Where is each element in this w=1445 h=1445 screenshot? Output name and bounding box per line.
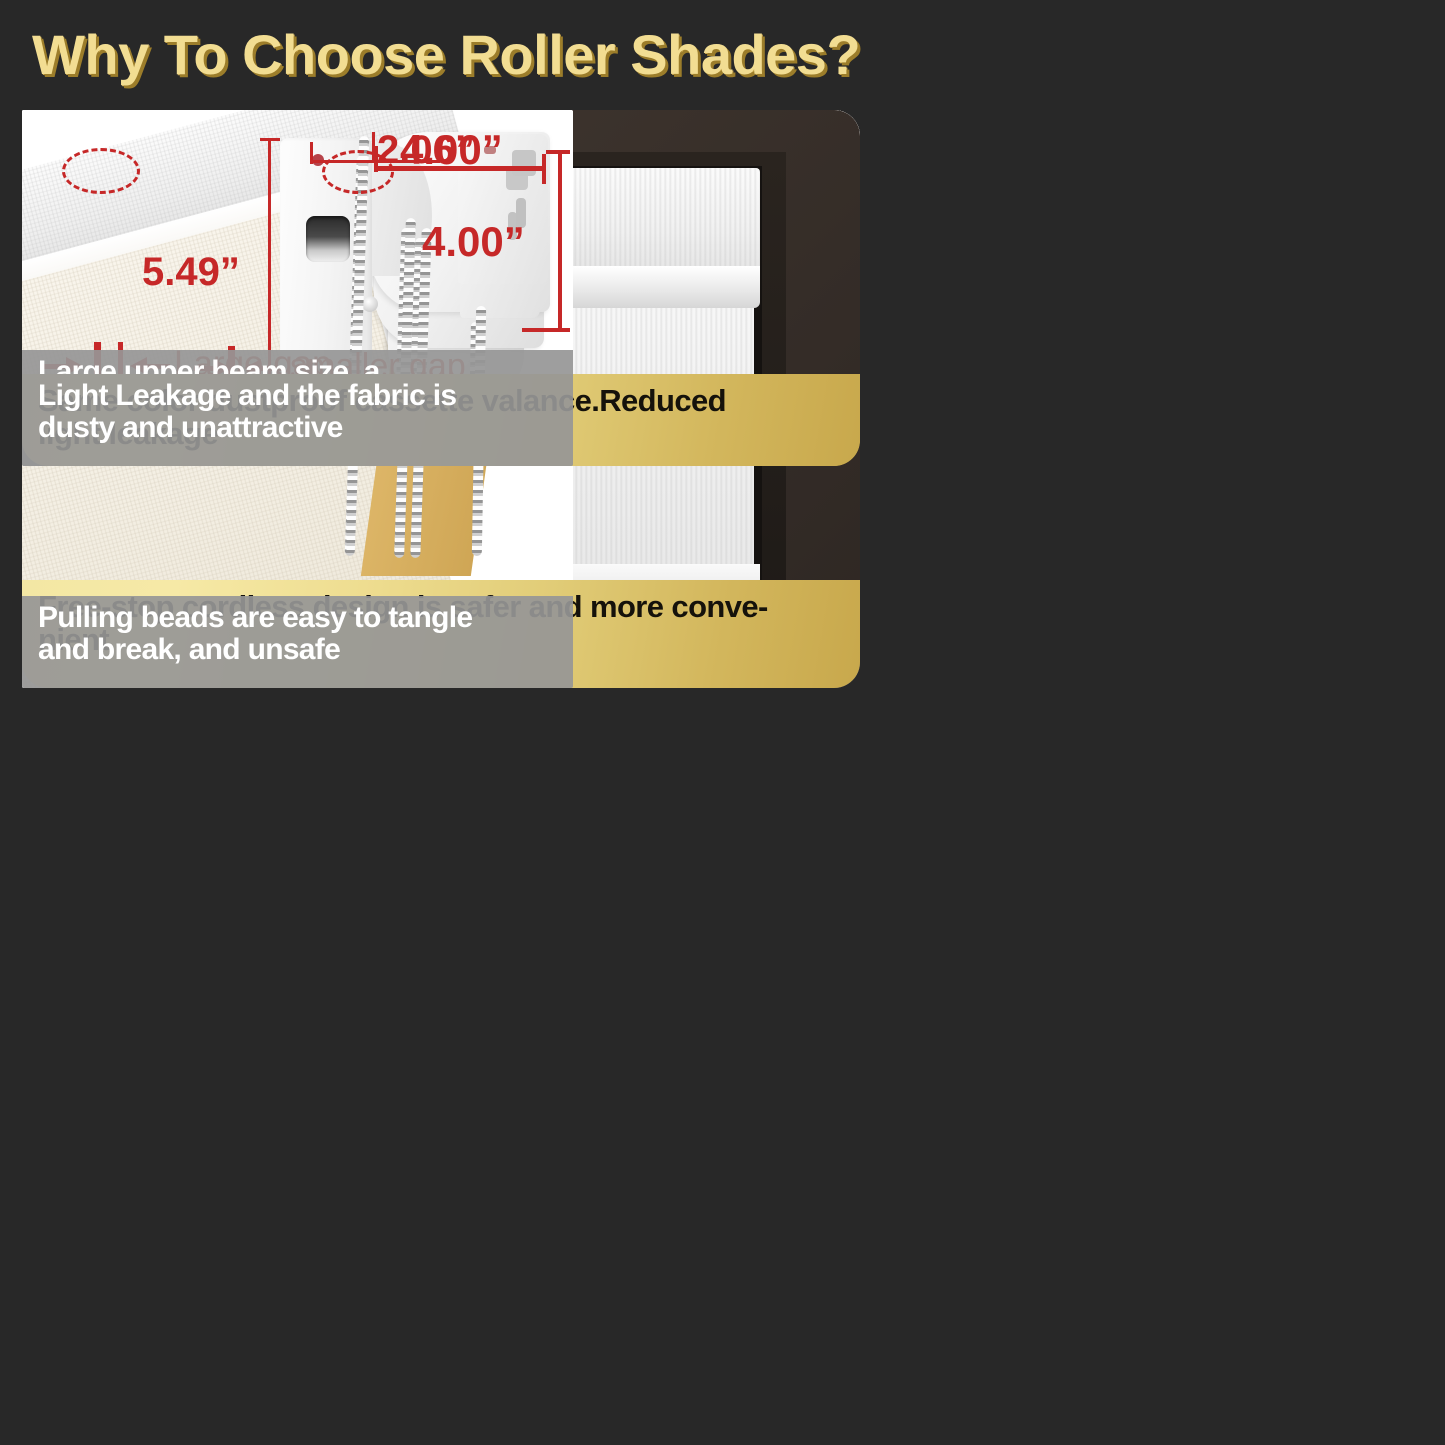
infographic-root: Why To Choose Roller Shades? <box>0 0 1445 1445</box>
panel-4-caption-line-1: Light Leakage and the fabric is <box>38 380 557 412</box>
cassette-mechanism-slot-icon <box>306 216 350 262</box>
page-title: Why To Choose Roller Shades? <box>32 22 860 87</box>
cassette-small-screw-icon <box>362 296 378 312</box>
bracket-slot-icon-1 <box>512 150 536 176</box>
panel-6-caption-line-1: Pulling beads are easy to tangle <box>38 602 557 634</box>
panel-4-caption: Light Leakage and the fabric is dusty an… <box>22 374 573 466</box>
page-title-bar: Why To Choose Roller Shades? <box>0 0 1445 108</box>
gap-highlight-ellipse-icon <box>322 150 394 194</box>
panel-6-caption-line-2: and break, and unsafe <box>38 634 557 666</box>
beam-height-line <box>558 150 562 332</box>
panel-6-caption: Pulling beads are easy to tangle and bre… <box>22 596 573 688</box>
panel-4-caption-line-2: dusty and unattractive <box>38 412 557 444</box>
beam-height-tick-top <box>546 150 570 154</box>
height-dimension-label: 5.49” <box>142 250 240 295</box>
beam-height-label: 4.00” <box>422 218 525 266</box>
comparison-grid: 2.06” 5.49” Smaller cassette valance dim… <box>22 110 1426 1428</box>
beam-height-tick-bottom <box>522 328 570 332</box>
width-tick-left <box>310 142 313 164</box>
beam-width-label: 4.00” <box>400 126 503 174</box>
height-tick-top <box>260 138 280 141</box>
beam-width-tick-right <box>542 154 546 184</box>
gap-highlight-ellipse-icon <box>62 148 140 194</box>
